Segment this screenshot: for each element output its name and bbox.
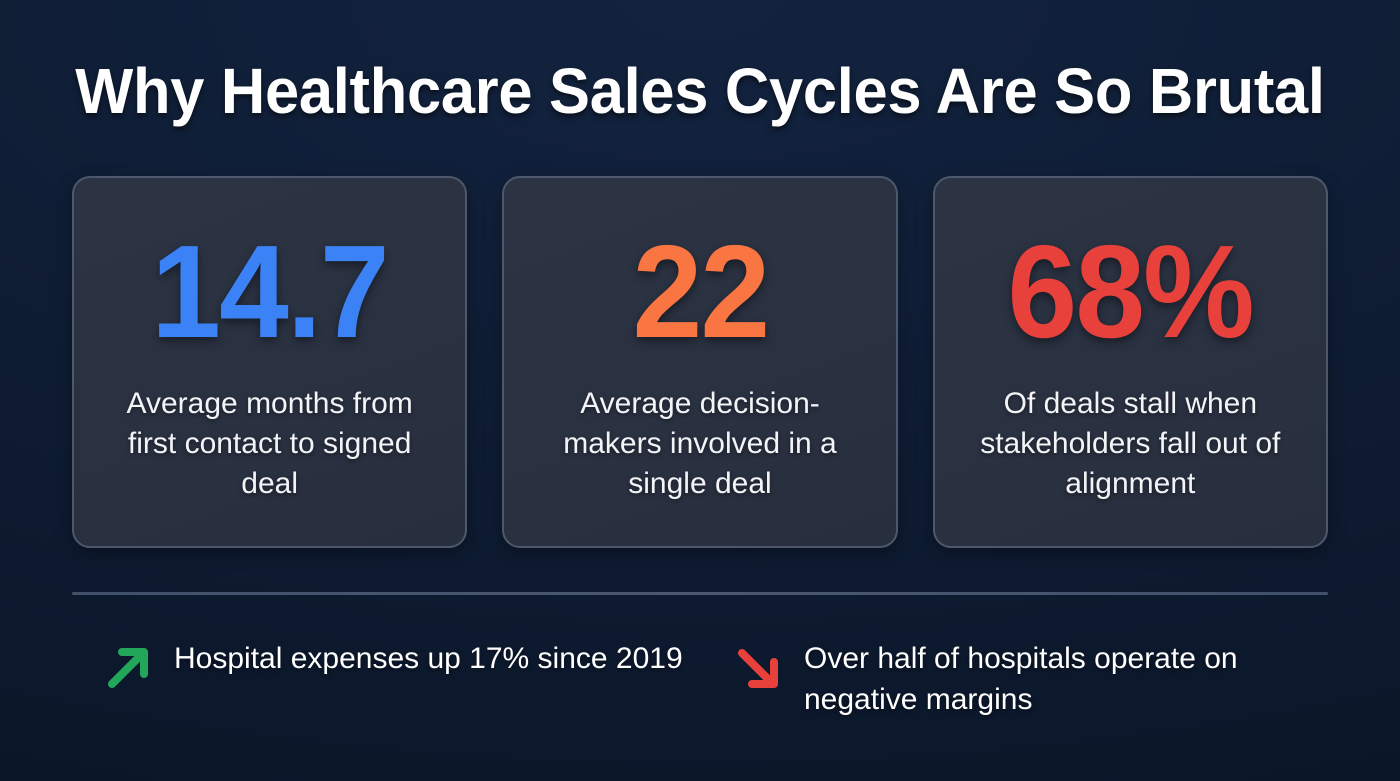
stat-label-1: Average months from first contact to sig… [105, 384, 435, 504]
infographic-board: Why Healthcare Sales Cycles Are So Bruta… [0, 0, 1400, 781]
footer-note-1: Hospital expenses up 17% since 2019 [72, 634, 702, 720]
arrow-up-right-icon [102, 642, 154, 694]
stat-card-3: 68% Of deals stall when stakeholders fal… [933, 176, 1328, 548]
stat-value-3: 68% [1008, 226, 1253, 358]
section-divider [72, 592, 1328, 595]
stat-card-2: 22 Average decision-makers involved in a… [502, 176, 897, 548]
footer-note-1-text: Hospital expenses up 17% since 2019 [174, 634, 683, 679]
stat-label-2: Average decision-makers involved in a si… [535, 384, 865, 504]
stat-value-2: 22 [632, 226, 768, 358]
stat-card-1: 14.7 Average months from first contact t… [72, 176, 467, 548]
stat-card-group: 14.7 Average months from first contact t… [72, 176, 1328, 548]
footer-note-2: Over half of hospitals operate on negati… [702, 634, 1328, 720]
footer-notes: Hospital expenses up 17% since 2019 Over… [72, 634, 1328, 720]
page-title: Why Healthcare Sales Cycles Are So Bruta… [28, 58, 1372, 125]
stat-value-1: 14.7 [151, 226, 387, 358]
footer-note-2-text: Over half of hospitals operate on negati… [804, 634, 1328, 720]
stat-label-3: Of deals stall when stakeholders fall ou… [965, 384, 1295, 504]
arrow-down-right-icon [732, 642, 784, 694]
